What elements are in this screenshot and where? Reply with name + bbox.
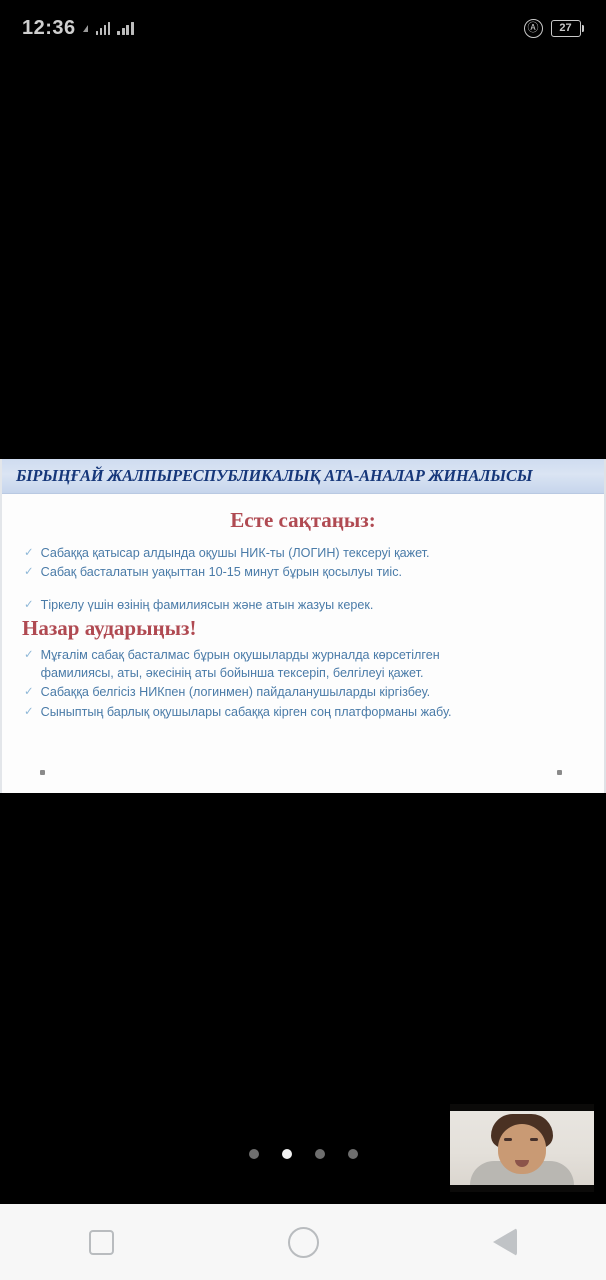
presentation-slide[interactable]: БІРЫҢҒАЙ ЖАЛПЫРЕСПУБЛИКАЛЫҚ АТА-АНАЛАР Ж…	[0, 459, 606, 793]
status-bar-right: Ⓐ 27	[524, 19, 585, 38]
list-item: ✓ Сыныптың барлық оқушылары сабаққа кірг…	[16, 703, 590, 721]
android-navigation-bar	[0, 1204, 606, 1280]
square-recents-icon	[89, 1230, 114, 1255]
video-letterbox-top	[450, 1104, 594, 1111]
page-dot-3[interactable]	[315, 1149, 325, 1159]
battery-icon: 27	[551, 20, 585, 37]
video-letterbox-bottom	[450, 1185, 594, 1192]
bullet-list-attention: ✓ Мұғалім сабақ басталмас бұрын оқушылар…	[16, 646, 590, 721]
heading-attention: Назар аударыңыз!	[16, 616, 590, 641]
check-icon: ✓	[24, 596, 34, 614]
participant-video-thumbnail[interactable]	[450, 1104, 594, 1192]
status-bar: 12:36 Ⓐ 27	[0, 0, 606, 56]
list-item-label: Мұғалім сабақ басталмас бұрын оқушыларды…	[41, 646, 440, 683]
slide-header-title: БІРЫҢҒАЙ ЖАЛПЫРЕСПУБЛИКАЛЫҚ АТА-АНАЛАР Ж…	[16, 466, 532, 486]
list-item: ✓ Мұғалім сабақ басталмас бұрын оқушылар…	[16, 646, 590, 683]
bullet-list-registration: ✓ Тіркелу үшін өзінің фамилиясын және ат…	[16, 596, 590, 614]
battery-level-label: 27	[551, 20, 581, 37]
check-icon: ✓	[24, 683, 34, 701]
slide-header-band: БІРЫҢҒАЙ ЖАЛПЫРЕСПУБЛИКАЛЫҚ АТА-АНАЛАР Ж…	[2, 459, 604, 494]
page-dot-4[interactable]	[348, 1149, 358, 1159]
spacer	[16, 583, 590, 596]
recents-button[interactable]	[51, 1204, 151, 1280]
video-person-eye-left	[504, 1138, 512, 1141]
page-dot-1[interactable]	[249, 1149, 259, 1159]
signal-bars-icon-2	[117, 21, 134, 35]
back-button[interactable]	[455, 1204, 555, 1280]
triangle-back-icon	[493, 1228, 517, 1256]
signal-triangle-icon	[83, 25, 88, 32]
page-dot-2[interactable]	[282, 1149, 292, 1159]
check-icon: ✓	[24, 544, 34, 562]
heading-remember: Есте сақтаңыз:	[16, 508, 590, 533]
check-icon: ✓	[24, 703, 34, 721]
alarm-mute-icon: Ⓐ	[524, 19, 543, 38]
list-item: ✓ Тіркелу үшін өзінің фамилиясын және ат…	[16, 596, 590, 614]
slide-decoration-dot-left	[40, 770, 45, 775]
battery-cap	[582, 25, 585, 32]
signal-bars-icon	[96, 21, 111, 35]
list-item-label: Тіркелу үшін өзінің фамилиясын және атын…	[41, 596, 374, 614]
page-indicator[interactable]	[0, 1149, 606, 1159]
slide-body: Есте сақтаңыз: ✓ Сабаққа қатысар алдында…	[2, 494, 604, 793]
home-button[interactable]	[253, 1204, 353, 1280]
slide-decoration-dot-right	[557, 770, 562, 775]
bullet-list-remember: ✓ Сабаққа қатысар алдында оқушы НИК-ты (…	[16, 544, 590, 582]
list-item-label: Сабаққа қатысар алдында оқушы НИК-ты (ЛО…	[41, 544, 430, 562]
check-icon: ✓	[24, 646, 34, 664]
video-person-eye-right	[530, 1138, 538, 1141]
list-item-label: Сабаққа белгісіз НИКпен (логинмен) пайда…	[41, 683, 431, 701]
phone-screen: 12:36 Ⓐ 27 БІРЫҢҒАЙ ЖАЛПЫРЕСПУБЛИКАЛЫҚ А…	[0, 0, 606, 1280]
list-item: ✓ Сабаққа қатысар алдында оқушы НИК-ты (…	[16, 544, 590, 562]
list-item: ✓ Сабақ басталатын уақыттан 10-15 минут …	[16, 563, 590, 581]
list-item: ✓ Сабаққа белгісіз НИКпен (логинмен) пай…	[16, 683, 590, 701]
list-item-label: Сабақ басталатын уақыттан 10-15 минут бұ…	[41, 563, 402, 581]
circle-home-icon	[288, 1227, 319, 1258]
status-clock: 12:36	[22, 17, 76, 40]
check-icon: ✓	[24, 563, 34, 581]
list-item-label: Сыныптың барлық оқушылары сабаққа кірген…	[41, 703, 452, 721]
status-bar-left: 12:36	[22, 17, 134, 40]
